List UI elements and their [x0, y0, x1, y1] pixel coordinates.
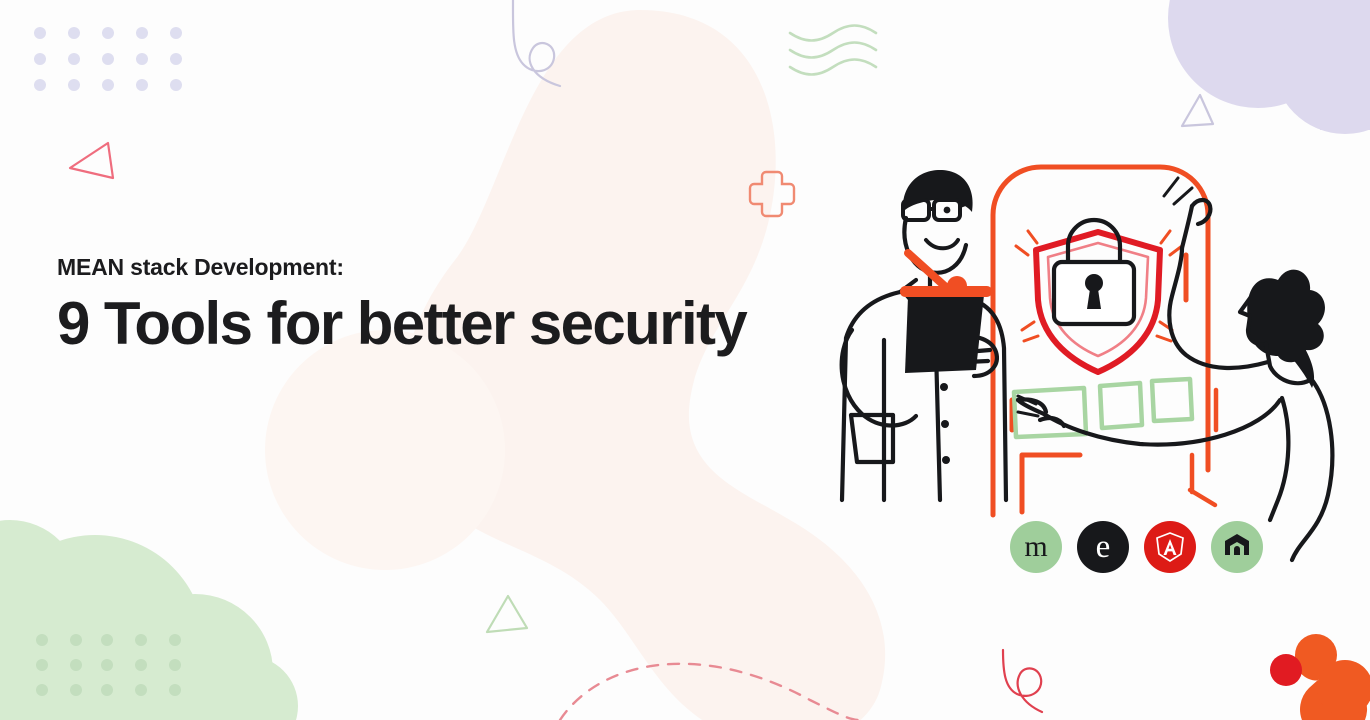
screen-accent-marks-icon	[1190, 390, 1216, 505]
clipboard-icon	[905, 295, 984, 373]
eyebrow-text: MEAN stack Development:	[57, 255, 817, 280]
screen-tiles-icon	[1014, 379, 1192, 437]
headline-block: MEAN stack Development: 9 Tools for bett…	[57, 255, 817, 354]
tech-stack-badges: m e	[1010, 521, 1263, 573]
page-title: 9 Tools for better security	[57, 294, 817, 354]
hero-illustration	[0, 0, 1370, 720]
angular-shield-icon	[1153, 530, 1187, 564]
express-letter-icon: e	[1096, 531, 1111, 564]
mongodb-letter-icon: m	[1024, 532, 1047, 562]
woman-hair-icon	[1247, 270, 1325, 388]
badge-nodejs[interactable]	[1211, 521, 1263, 573]
badge-angular[interactable]	[1144, 521, 1196, 573]
man-face-icon	[944, 207, 951, 214]
badge-express[interactable]: e	[1077, 521, 1129, 573]
coat-buttons-icon	[940, 383, 950, 464]
nodejs-hexagon-icon	[1222, 532, 1252, 562]
badge-mongodb[interactable]: m	[1010, 521, 1062, 573]
banner-root: MEAN stack Development: 9 Tools for bett…	[0, 0, 1370, 720]
man-smile-icon	[926, 240, 958, 248]
